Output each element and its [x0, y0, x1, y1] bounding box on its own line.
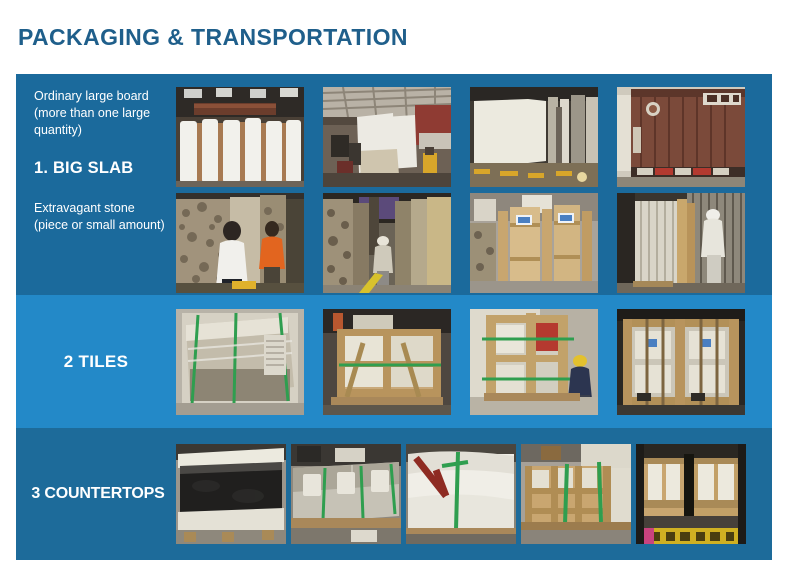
- photo-gray-stone-bundles-strapped: [291, 444, 401, 544]
- countertops-heading: 3 COUNTERTOPS: [16, 428, 176, 560]
- ordinary-large-board-photo-row: [176, 74, 772, 191]
- page-title: PACKAGING & TRANSPORTATION: [18, 24, 408, 51]
- big-slab-photo-column: [176, 74, 772, 295]
- photo-worker-loading-container-slabs: [617, 193, 745, 293]
- photo-tile-bundle-green-straps: [176, 309, 304, 415]
- photo-tile-crate-wooden-pallet: [323, 309, 451, 415]
- photo-wrapped-slab-bundles-warehouse: [176, 87, 304, 187]
- photo-black-countertop-on-pallet: [176, 444, 286, 544]
- countertops-photo-row: [176, 428, 772, 560]
- photo-worker-walking-between-slabs: [323, 193, 451, 293]
- photo-tile-crate-worker-loading: [470, 309, 598, 415]
- photo-workers-handling-granite-slab: [176, 193, 304, 293]
- tiles-photo-column: [176, 295, 772, 428]
- packaging-panel: Ordinary large board (more than one larg…: [16, 74, 772, 560]
- extravagant-stone-photo-row: [176, 191, 772, 295]
- photo-loaded-container-truck-rear: [617, 87, 745, 187]
- band-big-slab: Ordinary large board (more than one larg…: [16, 74, 772, 295]
- big-slab-heading: 1. BIG SLAB: [34, 159, 166, 178]
- photo-crates-loaded-in-container: [636, 444, 746, 544]
- slide-root: PACKAGING & TRANSPORTATION Ordinary larg…: [0, 0, 790, 584]
- photo-white-wrapped-bundle-green-strap: [406, 444, 516, 544]
- tiles-heading: 2 TILES: [16, 295, 176, 428]
- countertops-photo-column: [176, 428, 772, 560]
- big-slab-lead-text: Ordinary large board (more than one larg…: [34, 88, 166, 139]
- photo-tile-crates-inside-container: [617, 309, 745, 415]
- tiles-photo-row: [176, 295, 772, 428]
- band-countertops: 3 COUNTERTOPS: [16, 428, 772, 560]
- photo-wooden-crates-green-straps: [521, 444, 631, 544]
- big-slab-label-column: Ordinary large board (more than one larg…: [16, 74, 176, 295]
- band-tiles: 2 TILES: [16, 295, 772, 428]
- photo-slabs-loading-truck-warehouse: [323, 87, 451, 187]
- big-slab-sub-text: Extravagant stone (piece or small amount…: [34, 200, 166, 234]
- photo-crated-slabs-wooden-frames: [470, 193, 598, 293]
- photo-slabs-inside-container: [470, 87, 598, 187]
